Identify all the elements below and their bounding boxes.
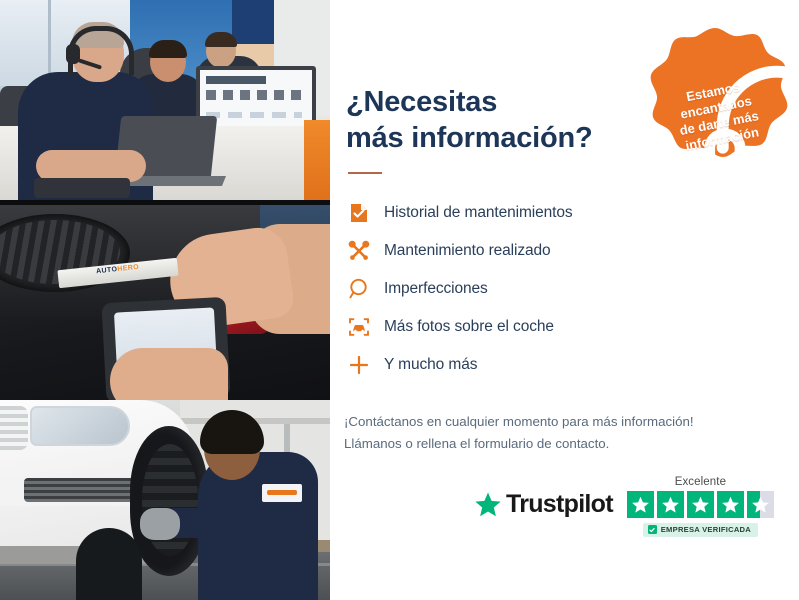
photo-call-center-agent-headset (0, 0, 330, 200)
plus-icon (344, 350, 374, 380)
photo-car-inspection-ruler-tablet: AUTOHERO (0, 200, 330, 400)
star-2 (657, 491, 684, 518)
magnifier-icon (344, 274, 374, 304)
verified-company-badge: EMPRESA VERIFICADA (643, 523, 758, 537)
feature-label: Más fotos sobre el coche (384, 318, 554, 336)
trustpilot-logo: Trustpilot (474, 490, 613, 519)
ruler-brand-prefix: AUTO (96, 266, 118, 275)
inspector-hand-lower (110, 348, 228, 400)
feature-label: Historial de mantenimientos (384, 204, 573, 222)
info-badge: Estamos encantados de darte más informac… (639, 26, 791, 178)
rating-stars (627, 491, 774, 518)
uniform-logo-patch (262, 484, 302, 502)
photo-mechanic-wheel-inspection (0, 400, 330, 600)
feature-item-fotos: Más fotos sobre el coche (344, 308, 674, 346)
car-lower-grille (24, 478, 134, 502)
feature-item-mucho-mas: Y mucho más (344, 346, 674, 384)
monitor-toolbar (206, 76, 266, 84)
feature-item-historial: Historial de mantenimientos (344, 194, 674, 232)
trustpilot-widget[interactable]: Trustpilot Excelente EMPRESA VERIFICADA (474, 476, 774, 537)
rear-wheel (76, 528, 142, 600)
star-1 (627, 491, 654, 518)
car-front-grille (0, 406, 28, 450)
photo-column: AUTOHERO (0, 0, 330, 600)
car-scan-icon (344, 312, 374, 342)
orange-equipment (304, 120, 330, 200)
tools-cross-icon (344, 236, 374, 266)
feature-label: Imperfecciones (384, 280, 488, 298)
desk-tablet (34, 178, 130, 198)
car-headlight (30, 406, 130, 446)
trustpilot-rating: Excelente EMPRESA VERIFICADA (627, 476, 774, 537)
trustpilot-star-icon (474, 491, 502, 519)
feature-item-imperfecciones: Imperfecciones (344, 270, 674, 308)
verified-label: EMPRESA VERIFICADA (661, 525, 751, 534)
feature-item-mantenimiento: Mantenimiento realizado (344, 232, 674, 270)
monitor-text-row (206, 112, 302, 118)
feature-list: Historial de mantenimientos M (344, 194, 674, 384)
page-title: ¿Necesitas más información? (346, 85, 593, 156)
wall-poster (232, 0, 274, 46)
mechanic-glove (140, 508, 180, 540)
star-4 (717, 491, 744, 518)
feature-label: Mantenimiento realizado (384, 242, 551, 260)
badge-text: Estamos encantados de darte más informac… (626, 13, 799, 191)
coworker-hair (149, 40, 187, 58)
contact-text: ¡Contáctanos en cualquier momento para m… (344, 411, 694, 454)
title-divider (348, 172, 382, 174)
coworker-far-hair (205, 32, 237, 47)
feature-label: Y mucho más (384, 356, 477, 374)
photo-top-edge (0, 200, 330, 205)
verified-check-icon (648, 525, 657, 534)
star-5-half (747, 491, 774, 518)
ruler-brand-suffix: HERO (117, 264, 139, 273)
trustpilot-wordmark: Trustpilot (506, 490, 613, 519)
content-panel: ¿Necesitas más información? Estamos enca… (330, 0, 799, 600)
star-3 (687, 491, 714, 518)
monitor-icon-row (206, 90, 302, 100)
info-banner: AUTOHERO (0, 0, 799, 600)
rating-label: Excelente (675, 476, 726, 488)
document-check-icon (344, 198, 374, 228)
